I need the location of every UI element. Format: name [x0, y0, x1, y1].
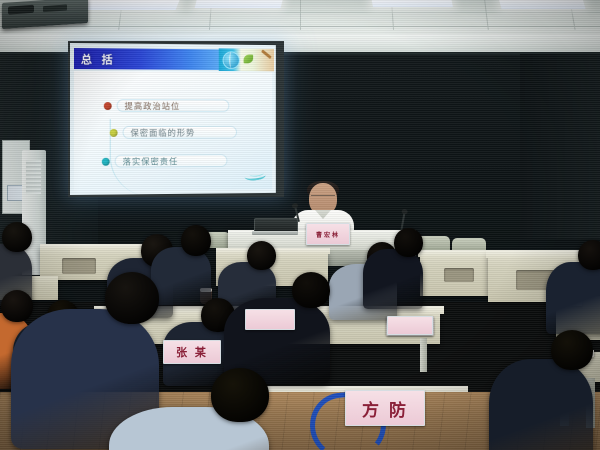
- attendee-torso: [363, 249, 423, 309]
- ceiling-light-panel: [84, 0, 181, 10]
- attendee-head: [247, 241, 276, 270]
- attendee-head: [292, 272, 330, 308]
- slide-title: 总 括: [81, 51, 116, 67]
- bullet-pill: 提高政治站位: [117, 99, 230, 112]
- slide-bullet-2-text: 保密面临的形势: [130, 126, 195, 138]
- bullet-dot-icon: [110, 128, 118, 136]
- attendee-head: [2, 222, 32, 252]
- bullet-pill: 落实保密责任: [115, 154, 228, 167]
- slide-bullet-3: 落实保密责任: [102, 154, 228, 168]
- bullet-dot-icon: [104, 102, 112, 110]
- speaker-placard: 曹宏林: [306, 223, 350, 245]
- placard-zhang: 张 某: [163, 340, 221, 364]
- placard-fang-text: 方 防: [362, 396, 408, 421]
- attendee-torso: [489, 359, 593, 450]
- attendee-head: [394, 228, 423, 257]
- ceiling-light-panel: [195, 0, 284, 8]
- slide-bullet-1: 提高政治站位: [104, 99, 230, 112]
- placard-right: [387, 316, 433, 335]
- conference-room-photo: 提高政治站位 保密面临的形势 落实保密责任: [0, 0, 600, 450]
- projection-screen: 提高政治站位 保密面临的形势 落实保密责任: [68, 41, 284, 197]
- bullet-pill: 保密面临的形势: [123, 126, 237, 139]
- placard-zhang-text: 张 某: [176, 344, 208, 360]
- desk-leg: [420, 338, 427, 372]
- attendee-black-jacket: [378, 228, 438, 317]
- ceiling-light-panel: [371, 0, 453, 7]
- attendee-head: [211, 368, 269, 422]
- air-conditioner-vent-icon: [26, 160, 41, 194]
- slide-bullet-2: 保密面临的形势: [110, 126, 237, 139]
- slide-bullet-3-text: 落实保密责任: [123, 155, 179, 167]
- laptop-keyboard: [252, 231, 298, 235]
- speaker-placard-text: 曹宏林: [316, 230, 340, 239]
- glasses-icon: [311, 195, 335, 201]
- globe-network-icon: [223, 51, 240, 69]
- leaf-icon: [244, 55, 254, 64]
- slide-body: 提高政治站位 保密面临的形势 落实保密责任: [74, 71, 272, 191]
- projected-slide: 提高政治站位 保密面临的形势 落实保密责任: [70, 43, 276, 195]
- ceiling-light-panel: [498, 0, 585, 9]
- slide-bullet-1-text: 提高政治站位: [125, 100, 181, 112]
- attendee-head: [551, 330, 593, 370]
- desk-front-panel: [444, 268, 474, 282]
- placard-mid: [245, 309, 295, 330]
- slide-decoration-image: [219, 48, 274, 71]
- presenter-laptop: [252, 218, 298, 236]
- attendee-torso: [546, 262, 600, 334]
- attendee-far-right: [562, 240, 600, 342]
- attendee-front-lightblue: [160, 368, 320, 450]
- attendee-head: [578, 240, 600, 270]
- pen-icon: [261, 49, 272, 59]
- wall-panel-right: [520, 54, 600, 239]
- attendee-head: [181, 225, 211, 256]
- placard-fang: 方 防: [345, 390, 425, 426]
- attendee-front-right: [520, 330, 600, 450]
- attendee-head: [105, 272, 159, 324]
- attendee-head: [1, 290, 33, 322]
- bullet-dot-icon: [102, 157, 110, 165]
